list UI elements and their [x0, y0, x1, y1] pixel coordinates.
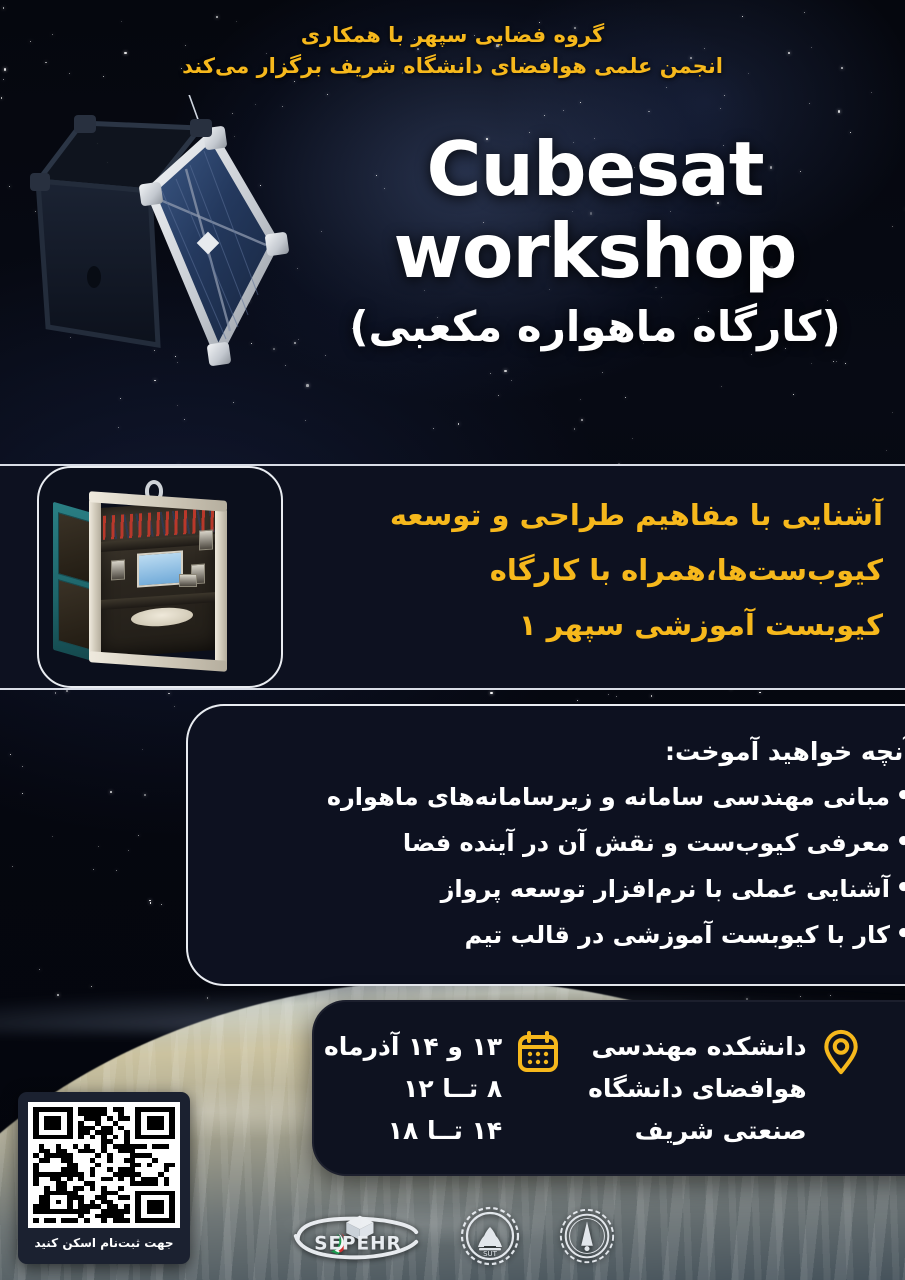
educational-cubesat-image — [39, 468, 281, 686]
cubesat-module-4 — [179, 574, 197, 587]
cubesat-module-1 — [111, 560, 125, 581]
cubesat-module-3 — [199, 530, 213, 551]
event-time-line-2: ۱۴ تــا ۱۸ — [324, 1110, 502, 1152]
event-location-line-2: هوافضای دانشگاه — [588, 1068, 807, 1110]
learn-outcomes-card: آنچه خواهید آموخت: مبانی مهندسی سامانه و… — [186, 704, 905, 986]
poster-header: گروه فضایی سپهر با همکاری انجمن علمی هوا… — [0, 20, 905, 82]
cubesat-rail-right — [215, 508, 227, 669]
cubesat-rail-left — [89, 497, 101, 660]
sepehr-space-group-logo: SEPEHR — [288, 1206, 424, 1270]
description-line-1: آشنایی با مفاهیم طراحی و توسعه — [293, 488, 883, 543]
header-line-1: گروه فضایی سپهر با همکاری — [0, 20, 905, 51]
event-info-card: ۱۳ و ۱۴ آذرماه ۸ تــا ۱۲ ۱۴ تــا ۱۸ دانش… — [312, 1000, 905, 1176]
aerospace-society-logo — [556, 1205, 618, 1271]
event-date-line-1: ۱۳ و ۱۴ آذرماه — [324, 1026, 502, 1068]
event-location-line-1: دانشکده مهندسی — [588, 1026, 807, 1068]
title-english-line-1: Cubesat — [300, 128, 890, 210]
event-date-block: ۱۳ و ۱۴ آذرماه ۸ تــا ۱۲ ۱۴ تــا ۱۸ — [314, 1002, 578, 1174]
educational-cubesat-photo-card — [37, 466, 283, 688]
map-pin-icon — [819, 1026, 863, 1080]
title-persian: (کارگاه ماهواره مکعبی) — [300, 296, 890, 358]
description-text: آشنایی با مفاهیم طراحی و توسعه کیوب‌ست‌ه… — [293, 488, 883, 653]
learn-outcomes-title: آنچه خواهید آموخت: — [212, 732, 905, 772]
event-location-line-3: صنعتی شریف — [588, 1110, 807, 1152]
cubesat-rail-bottom — [89, 651, 227, 672]
cubesat-display-screen — [137, 550, 183, 587]
list-item: مبانی مهندسی سامانه و زیرسامانه‌های ماهو… — [212, 774, 905, 820]
description-line-2: کیوب‌ست‌ها،همراه با کارگاه — [293, 543, 883, 598]
header-line-2: انجمن علمی هوافضای دانشگاه شریف برگزار م… — [0, 51, 905, 82]
description-line-3: کیوبست آموزشی سپهر ۱ — [293, 598, 883, 653]
list-item: کار با کیوبست آموزشی در قالب تیم — [212, 912, 905, 958]
sponsor-logos: SUT SEPEHR — [0, 1204, 905, 1272]
sharif-university-logo: SUT — [458, 1204, 522, 1272]
hero-cubesat-image — [0, 95, 320, 445]
calendar-icon — [514, 1026, 562, 1080]
learn-outcomes-list: مبانی مهندسی سامانه و زیرسامانه‌های ماهو… — [212, 774, 905, 958]
list-item: آشنایی عملی با نرم‌افزار توسعه پرواز — [212, 866, 905, 912]
event-location-block: دانشکده مهندسی هوافضای دانشگاه صنعتی شری… — [578, 1002, 893, 1174]
title-block: Cubesat workshop (کارگاه ماهواره مکعبی) — [300, 128, 890, 358]
event-time-line-1: ۸ تــا ۱۲ — [324, 1068, 502, 1110]
svg-text:SEPEHR: SEPEHR — [314, 1234, 401, 1255]
title-english-line-2: workshop — [300, 210, 890, 292]
svg-text:SUT: SUT — [483, 1250, 498, 1258]
poster-root: گروه فضایی سپهر با همکاری انجمن علمی هوا… — [0, 0, 905, 1280]
list-item: معرفی کیوب‌ست و نقش آن در آینده فضا — [212, 820, 905, 866]
